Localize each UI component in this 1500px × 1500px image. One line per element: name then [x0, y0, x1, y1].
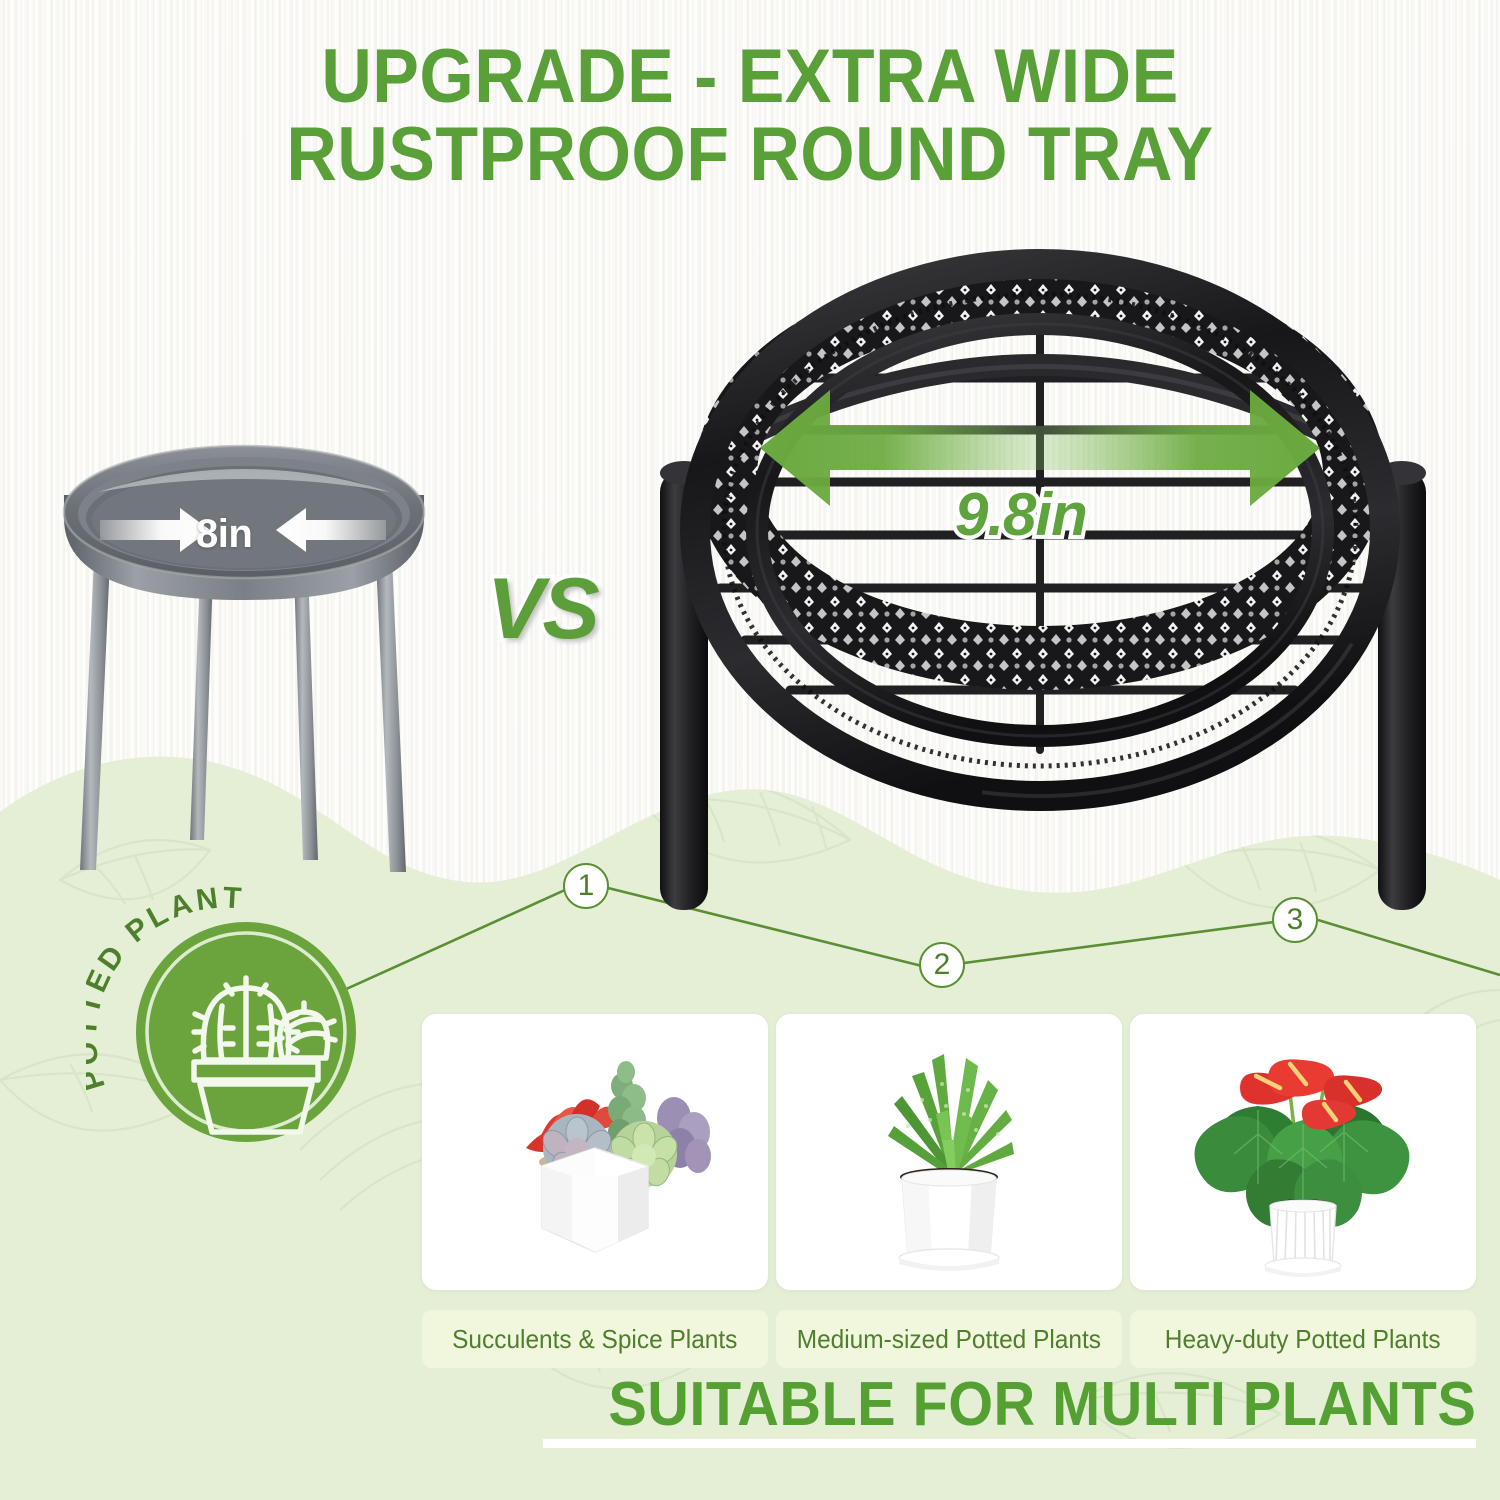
aloe-leaves — [888, 1054, 1014, 1176]
hexagon-pot — [542, 1148, 648, 1252]
plant-label-medium: Medium-sized Potted Plants — [776, 1310, 1122, 1368]
vs-label: VS — [487, 560, 598, 659]
gray-legs — [80, 558, 406, 872]
new-dimension-label: 9.8in — [955, 480, 1087, 549]
connector-marker-1: 1 — [563, 863, 609, 909]
ribbed-pot — [1265, 1200, 1341, 1277]
connector-marker-3: 3 — [1272, 897, 1318, 943]
potted-plant-badge: POTTED PLANT — [86, 880, 386, 1180]
plant-label-heavy: Heavy-duty Potted Plants — [1130, 1310, 1476, 1368]
black-tray-stand-graphic — [640, 230, 1440, 930]
headline-line-2: RUSTPROOF ROUND TRAY — [60, 116, 1440, 194]
plant-card-succulents[interactable] — [422, 1014, 768, 1290]
footer-headline-text: SUITABLE FOR MULTI PLANTS — [608, 1373, 1476, 1437]
succulents-hexagon-pot-image — [422, 1014, 768, 1290]
plant-cards-row — [422, 1014, 1478, 1294]
old-product-illustration — [58, 440, 478, 920]
footer-underline — [543, 1439, 1476, 1448]
old-dimension-label: 8in — [196, 512, 252, 557]
new-product-illustration — [640, 230, 1440, 930]
plant-label-succulents-text: Succulents & Spice Plants — [452, 1324, 737, 1355]
plant-card-aloe[interactable] — [776, 1014, 1122, 1290]
footer-headline: SUITABLE FOR MULTI PLANTS — [543, 1373, 1476, 1448]
plant-labels-row: Succulents & Spice Plants Medium-sized P… — [422, 1310, 1478, 1368]
anthurium-ribbed-pot-image — [1130, 1014, 1476, 1290]
page-title: UPGRADE - EXTRA WIDE RUSTPROOF ROUND TRA… — [0, 38, 1500, 194]
plant-label-medium-text: Medium-sized Potted Plants — [797, 1324, 1101, 1355]
cylinder-pot — [899, 1170, 999, 1271]
infographic-canvas: UPGRADE - EXTRA WIDE RUSTPROOF ROUND TRA… — [0, 0, 1500, 1500]
headline-line-1: UPGRADE - EXTRA WIDE — [60, 38, 1440, 116]
plant-label-heavy-text: Heavy-duty Potted Plants — [1165, 1324, 1441, 1355]
connector-marker-2: 2 — [919, 942, 965, 988]
aloe-cylinder-pot-image — [776, 1014, 1122, 1290]
plant-card-anthurium[interactable] — [1130, 1014, 1476, 1290]
plant-label-succulents: Succulents & Spice Plants — [422, 1310, 768, 1368]
